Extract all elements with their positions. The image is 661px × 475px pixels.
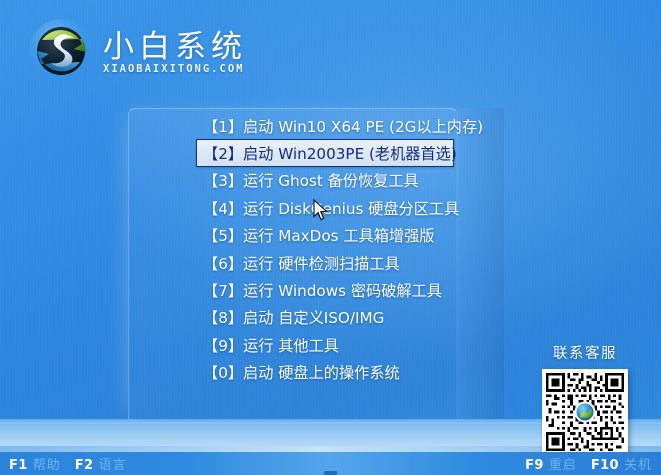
boot-menu-item-6[interactable]: 【6】运行 硬件检测扫描工具 <box>196 249 454 276</box>
hint-f10-shutdown[interactable]: F10 关机 <box>591 454 652 473</box>
customer-service-block: 联系客服 <box>527 342 643 455</box>
boot-menu-item-8[interactable]: 【8】启动 自定义ISO/IMG <box>196 304 454 331</box>
hint-label: 重启 <box>549 454 577 473</box>
bottom-hints-right: F9 重启 F10 关机 <box>525 454 652 473</box>
boot-menu-item-2[interactable]: 【2】启动 Win2003PE (老机器首选) <box>196 139 454 166</box>
hint-f9-restart[interactable]: F9 重启 <box>525 454 577 473</box>
hint-key: F1 <box>9 458 28 473</box>
customer-service-title: 联系客服 <box>527 342 643 363</box>
bottom-hints-left: F1 帮助 F2 语言 <box>9 454 127 473</box>
qr-code-icon[interactable] <box>542 369 628 455</box>
boot-menu-item-7[interactable]: 【7】运行 Windows 密码破解工具 <box>196 276 454 303</box>
hint-key: F2 <box>75 458 94 473</box>
brand-name-cn: 小白系统 <box>103 32 247 63</box>
recycle-arrow-logo-icon <box>28 18 94 84</box>
hint-f1-help[interactable]: F1 帮助 <box>9 454 61 473</box>
hint-label: 语言 <box>98 454 126 473</box>
boot-menu-item-5[interactable]: 【5】运行 MaxDos 工具箱增强版 <box>196 222 454 249</box>
mouse-arrow-icon <box>313 199 329 223</box>
boot-menu-item-9[interactable]: 【9】运行 其他工具 <box>196 331 454 358</box>
brand-text: 小白系统 XIAOBAIXITONG.COM <box>103 28 247 75</box>
boot-menu-item-3[interactable]: 【3】运行 Ghost 备份恢复工具 <box>196 167 454 194</box>
brand-name-en: XIAOBAIXITONG.COM <box>103 64 247 75</box>
brand-logo: 小白系统 XIAOBAIXITONG.COM <box>28 18 247 84</box>
boot-menu-item-0[interactable]: 【0】启动 硬盘上的操作系统 <box>196 359 454 386</box>
hint-key: F10 <box>591 458 619 473</box>
bottom-bar-notch <box>324 471 337 475</box>
boot-menu-list[interactable]: 【1】启动 Win10 X64 PE (2G以上内存) 【2】启动 Win200… <box>196 112 454 386</box>
qr-center-logo-icon <box>575 402 596 423</box>
hint-label: 关机 <box>624 454 652 473</box>
boot-menu-item-1[interactable]: 【1】启动 Win10 X64 PE (2G以上内存) <box>196 112 454 139</box>
stage-right-wall <box>458 108 504 419</box>
hint-label: 帮助 <box>33 454 61 473</box>
hint-f2-language[interactable]: F2 语言 <box>75 454 127 473</box>
hint-key: F9 <box>525 458 544 473</box>
